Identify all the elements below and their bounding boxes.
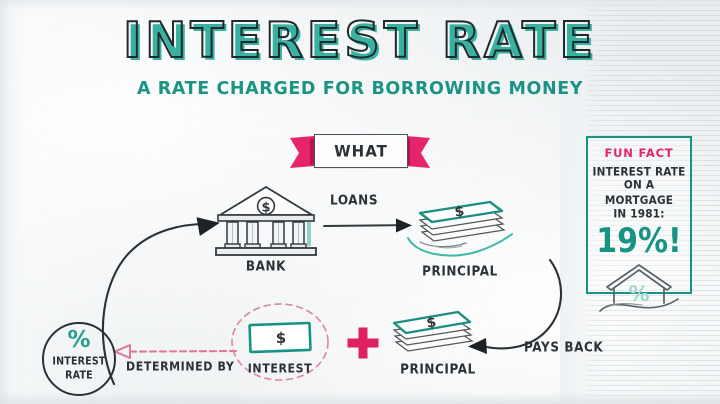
interest-dashed-circle: $ [228,302,332,390]
paper-left-edge [0,0,26,404]
paper-top-edge [0,0,720,10]
what-label: WHAT [334,141,388,160]
interest-node: $ INTEREST [228,302,332,390]
svg-text:$: $ [276,329,286,347]
plus-icon [346,326,380,360]
cash-stack-on-hand-icon: $ [404,186,516,266]
interest-label: INTEREST [228,361,332,376]
loans-label: LOANS [330,192,378,208]
svg-text:%: % [628,282,649,306]
svg-text:$: $ [261,200,270,215]
principal-bottom-node: $ PRINCIPAL [388,306,488,366]
plus-node: + [346,326,380,360]
cash-stack-icon: $ [388,306,488,366]
svg-text:$: $ [454,203,466,220]
fun-fact-card: FUN FACT INTEREST RATE ON A MORTGAGE IN … [586,136,692,294]
house-percent-on-hand-icon: % [598,261,680,313]
borrow-arrow [100,214,234,386]
pays-back-label: PAYS BACK [524,339,603,355]
fun-fact-line2: ON A MORTGAGE [588,177,690,208]
what-label-box: WHAT [314,134,408,168]
principal-bottom-label: PRINCIPAL [388,361,488,377]
fun-fact-highlight: 19%! [588,222,690,261]
what-banner: WHAT [288,132,432,178]
infographic-canvas: INTEREST RATE A RATE CHARGED FOR BORROWI… [0,0,720,404]
fun-fact-title: FUN FACT [588,146,690,160]
fun-fact-line3: IN 1981: [588,206,690,222]
principal-top-node: $ PRINCIPAL [404,186,516,266]
arrow-curve-up-icon [100,214,234,386]
